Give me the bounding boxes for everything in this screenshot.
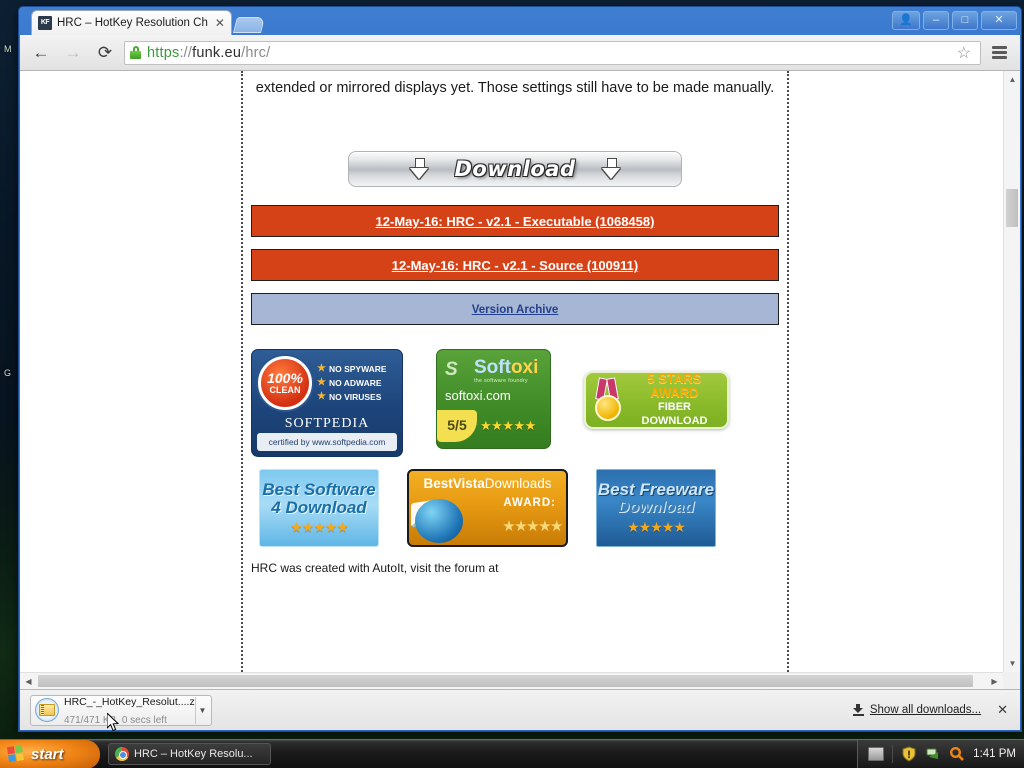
desktop-icon-label-top: M [4, 44, 12, 54]
tab-title: HRC – HotKey Resolution Ch [57, 17, 208, 29]
fiber-line-3: FIBER DOWNLOAD [628, 400, 721, 428]
bfd-line-2: Download [618, 499, 694, 517]
softpedia-seal-icon: 100% CLEAN [258, 356, 312, 410]
bvd-award-label: AWARD: [503, 497, 556, 509]
desktop-icon-label-mid: G [4, 368, 11, 378]
badge-best-software-4-download[interactable]: Best Software 4 Download ★★★★★ [259, 469, 379, 547]
url-text: https://funk.eu/hrc/ [147, 45, 270, 61]
bs4d-line-2: 4 Download [271, 499, 366, 517]
download-link-source[interactable]: 12-May-16: HRC - v2.1 - Source (100911) [251, 249, 779, 281]
window-controls: 👤 – □ ✕ [892, 11, 1017, 30]
softpedia-seal-word: CLEAN [270, 385, 301, 395]
scrollbar-corner [1003, 672, 1020, 689]
url-host: funk.eu [192, 45, 241, 61]
minimize-button[interactable]: – [923, 11, 949, 30]
tray-divider [892, 745, 893, 763]
start-button[interactable]: start [0, 740, 100, 768]
download-banner-image: Download [348, 151, 682, 187]
softoxi-rating: 5/5 ★★★★★ [437, 410, 536, 442]
softpedia-brand: SOFTPEDIA [258, 416, 396, 432]
softpedia-certified-text: certified by www.softpedia.com [257, 433, 397, 451]
scroll-right-button[interactable]: ▶ [986, 673, 1003, 689]
scroll-down-button[interactable]: ▼ [1004, 655, 1020, 672]
scroll-left-button[interactable]: ◀ [20, 673, 37, 689]
show-all-downloads-label: Show all downloads... [870, 704, 981, 716]
softoxi-domain: softoxi.com [445, 388, 550, 403]
download-arrow-icon [853, 704, 864, 716]
download-banner-text: Download [454, 157, 575, 181]
taskbar-clock[interactable]: 1:41 PM [973, 748, 1016, 760]
url-path: /hrc/ [241, 45, 270, 61]
tab-close-icon[interactable]: ✕ [213, 16, 227, 30]
show-all-downloads-link[interactable]: Show all downloads... [853, 704, 981, 716]
taskbar-item-chrome[interactable]: HRC – HotKey Resolu... [108, 743, 271, 765]
bs4d-line-1: Best Software [262, 481, 375, 499]
browser-window: KF HRC – HotKey Resolution Ch ✕ 👤 – □ ✕ … [18, 6, 1022, 732]
globe-icon [415, 499, 463, 543]
fiber-text: 5 STARS AWARD FIBER DOWNLOAD [628, 372, 721, 428]
download-arrow-right-icon [602, 158, 620, 180]
start-button-label: start [31, 746, 64, 763]
shield-warning-icon[interactable] [901, 746, 917, 762]
bs4d-stars-icon: ★★★★★ [290, 519, 348, 536]
star-icon: ★ [317, 390, 326, 404]
download-arrow-left-icon [410, 158, 428, 180]
badge-fiber-download[interactable]: 5 STARS AWARD FIBER DOWNLOAD [584, 371, 729, 429]
address-bar[interactable]: https://funk.eu/hrc/ ☆ [124, 41, 981, 65]
fiber-line-2: AWARD [628, 386, 721, 400]
intro-paragraph: extended or mirrored displays yet. Those… [251, 71, 779, 99]
title-bar: KF HRC – HotKey Resolution Ch ✕ 👤 – □ ✕ [19, 7, 1021, 35]
vertical-scrollbar[interactable]: ▲ ▼ [1003, 71, 1020, 672]
softpedia-seal-percent: 100% [267, 372, 303, 385]
softoxi-stars-icon: ★★★★★ [480, 418, 536, 434]
softpedia-claim-1: NO SPYWARE [329, 362, 387, 376]
softpedia-claim-3: NO VIRUSES [329, 390, 381, 404]
show-desktop-icon[interactable] [868, 747, 884, 761]
softoxi-wordmark: Softoxi [474, 358, 538, 377]
system-tray: 1:41 PM [857, 740, 1024, 768]
softoxi-word-a: Soft [474, 357, 511, 378]
award-badges: 100% CLEAN ★ NO SPYWARE ★ NO ADWARE ★ [251, 349, 779, 547]
horizontal-scrollbar[interactable]: ◀ ▶ [20, 672, 1003, 689]
reload-button[interactable]: ⟳ [92, 40, 118, 66]
badge-best-vista-downloads[interactable]: BestVistaDownloads AWARD: ★★★★★ [407, 469, 568, 547]
version-archive-link[interactable]: Version Archive [251, 293, 779, 325]
network-icon[interactable] [925, 746, 941, 762]
chrome-icon [115, 747, 129, 761]
horizontal-scrollbar-thumb[interactable] [38, 675, 973, 687]
close-button[interactable]: ✕ [981, 11, 1017, 30]
url-separator: :// [179, 45, 192, 61]
windows-logo-icon [7, 745, 26, 763]
vertical-scrollbar-thumb[interactable] [1006, 189, 1018, 227]
bvd-title-c: Downloads [485, 476, 552, 491]
download-links: 12-May-16: HRC - v2.1 - Executable (1068… [251, 205, 779, 325]
badge-softpedia[interactable]: 100% CLEAN ★ NO SPYWARE ★ NO ADWARE ★ [251, 349, 403, 457]
page-content: extended or mirrored displays yet. Those… [20, 71, 1003, 672]
content-column: extended or mirrored displays yet. Those… [241, 71, 789, 672]
bookmark-star-icon[interactable]: ☆ [953, 43, 975, 63]
badge-softoxi[interactable]: S Softoxi the software foundry softoxi.c… [436, 349, 551, 449]
bvd-title: BestVistaDownloads [415, 476, 560, 491]
download-shelf: HRC_-_HotKey_Resolut....zip 471/471 KB, … [20, 689, 1020, 730]
lock-icon [130, 46, 141, 59]
search-icon[interactable] [949, 746, 965, 762]
star-icon: ★ [317, 362, 326, 376]
softoxi-score: 5/5 [437, 410, 477, 442]
close-shelf-icon[interactable]: ✕ [995, 702, 1010, 718]
url-scheme: https [147, 45, 179, 61]
shelf-right-group: Show all downloads... ✕ [853, 702, 1010, 718]
bvd-title-b: Vista [453, 476, 485, 491]
fiber-line-1: 5 STARS [628, 372, 721, 386]
softpedia-claim-2: NO ADWARE [329, 376, 382, 390]
softoxi-tagline: the software foundry [474, 378, 538, 384]
page-viewport: extended or mirrored displays yet. Those… [20, 71, 1020, 689]
back-button[interactable]: ← [28, 40, 54, 66]
bfd-stars-icon: ★★★★★ [627, 519, 685, 536]
download-item[interactable]: HRC_-_HotKey_Resolut....zip 471/471 KB, … [30, 695, 212, 726]
bvd-stars-icon: ★★★★★ [502, 517, 562, 535]
taskbar: start HRC – HotKey Resolu... [0, 739, 1024, 768]
tab-strip: KF HRC – HotKey Resolution Ch ✕ [31, 10, 263, 35]
softpedia-claims: ★ NO SPYWARE ★ NO ADWARE ★ NO VIRUSES [317, 362, 387, 404]
browser-toolbar: ← → ⟳ https://funk.eu/hrc/ ☆ [20, 35, 1020, 71]
download-item-meta: HRC_-_HotKey_Resolut....zip 471/471 KB, … [64, 692, 195, 728]
medal-icon [592, 378, 624, 422]
new-tab-button[interactable] [233, 17, 265, 33]
taskbar-item-label: HRC – HotKey Resolu... [134, 748, 253, 760]
badge-row-2: Best Software 4 Download ★★★★★ BestVista… [251, 469, 779, 547]
browser-tab[interactable]: KF HRC – HotKey Resolution Ch ✕ [31, 10, 232, 35]
softoxi-logo: S Softoxi the software foundry [445, 358, 550, 384]
zip-file-icon [35, 698, 59, 722]
scroll-up-button[interactable]: ▲ [1004, 71, 1020, 88]
maximize-button[interactable]: □ [952, 11, 978, 30]
download-link-executable[interactable]: 12-May-16: HRC - v2.1 - Executable (1068… [251, 205, 779, 237]
user-profile-icon[interactable]: 👤 [892, 11, 920, 30]
forward-button[interactable]: → [60, 40, 86, 66]
download-file-name: HRC_-_HotKey_Resolut....zip [64, 696, 195, 708]
bvd-title-a: Best [423, 476, 452, 491]
softoxi-word-b: oxi [511, 357, 538, 378]
softpedia-top: 100% CLEAN ★ NO SPYWARE ★ NO ADWARE ★ [258, 356, 396, 410]
bfd-line-1: Best Freeware [598, 481, 714, 499]
badge-row-1: 100% CLEAN ★ NO SPYWARE ★ NO ADWARE ★ [251, 349, 779, 457]
footnote-text: HRC was created with AutoIt, visit the f… [251, 561, 779, 575]
tab-favicon-icon: KF [38, 16, 52, 30]
softoxi-mark-icon: S [445, 358, 471, 382]
download-item-dropdown-icon[interactable]: ▼ [195, 697, 209, 724]
badge-best-freeware-download[interactable]: Best Freeware Download ★★★★★ [596, 469, 716, 547]
mouse-cursor [107, 713, 119, 732]
menu-icon[interactable] [987, 46, 1012, 59]
star-icon: ★ [317, 376, 326, 390]
